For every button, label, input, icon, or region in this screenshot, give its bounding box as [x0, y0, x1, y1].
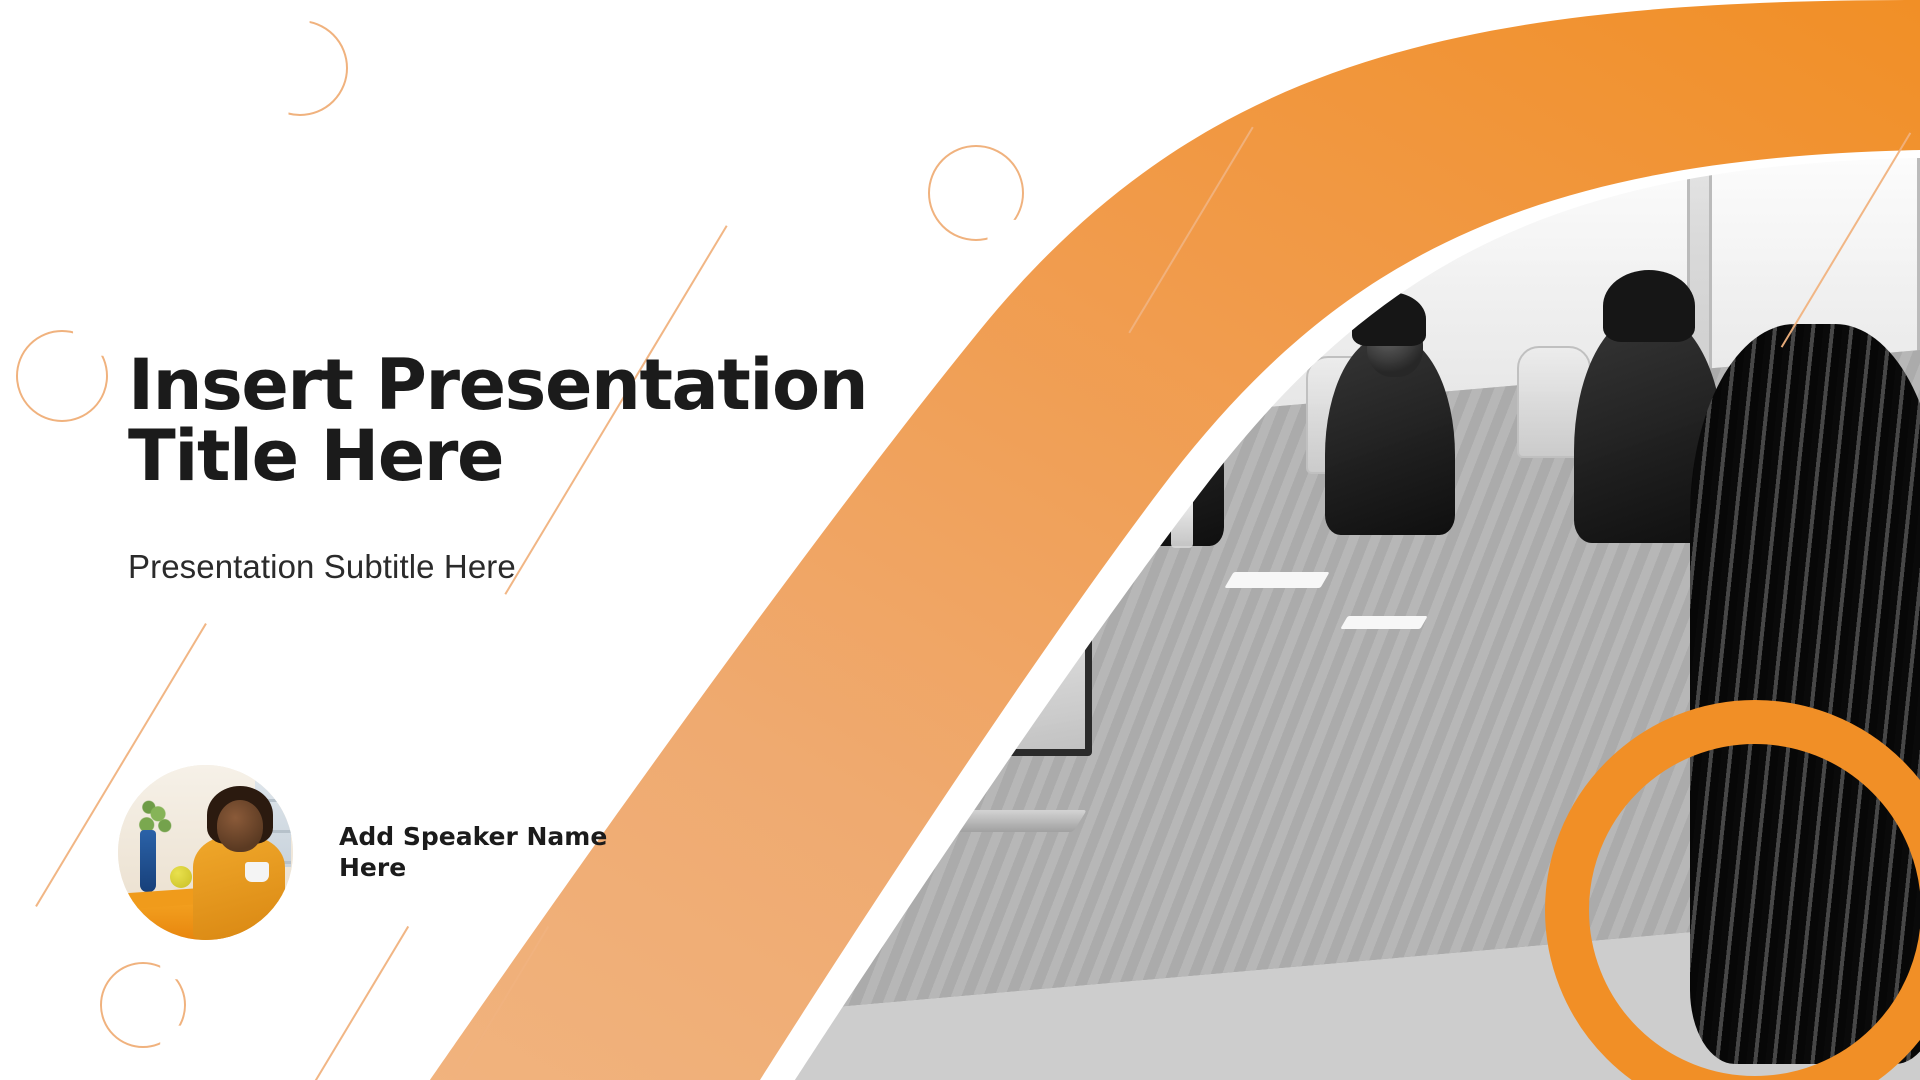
page-title[interactable]: Insert Presentation Title Here [128, 350, 918, 493]
speaker-block: Add Speaker Name Here [118, 765, 639, 940]
slide-subtitle[interactable]: Presentation Subtitle Here [128, 548, 516, 586]
presentation-title-slide: Insert Presentation Title Here Presentat… [0, 0, 1920, 1080]
avatar-yellow-object [170, 866, 192, 888]
avatar-person-head [217, 800, 263, 852]
avatar[interactable] [118, 765, 293, 940]
slide-text-content: Insert Presentation Title Here Presentat… [0, 0, 900, 1080]
avatar-mug [245, 862, 269, 882]
speaker-name[interactable]: Add Speaker Name Here [339, 822, 639, 883]
avatar-vase [140, 830, 156, 892]
